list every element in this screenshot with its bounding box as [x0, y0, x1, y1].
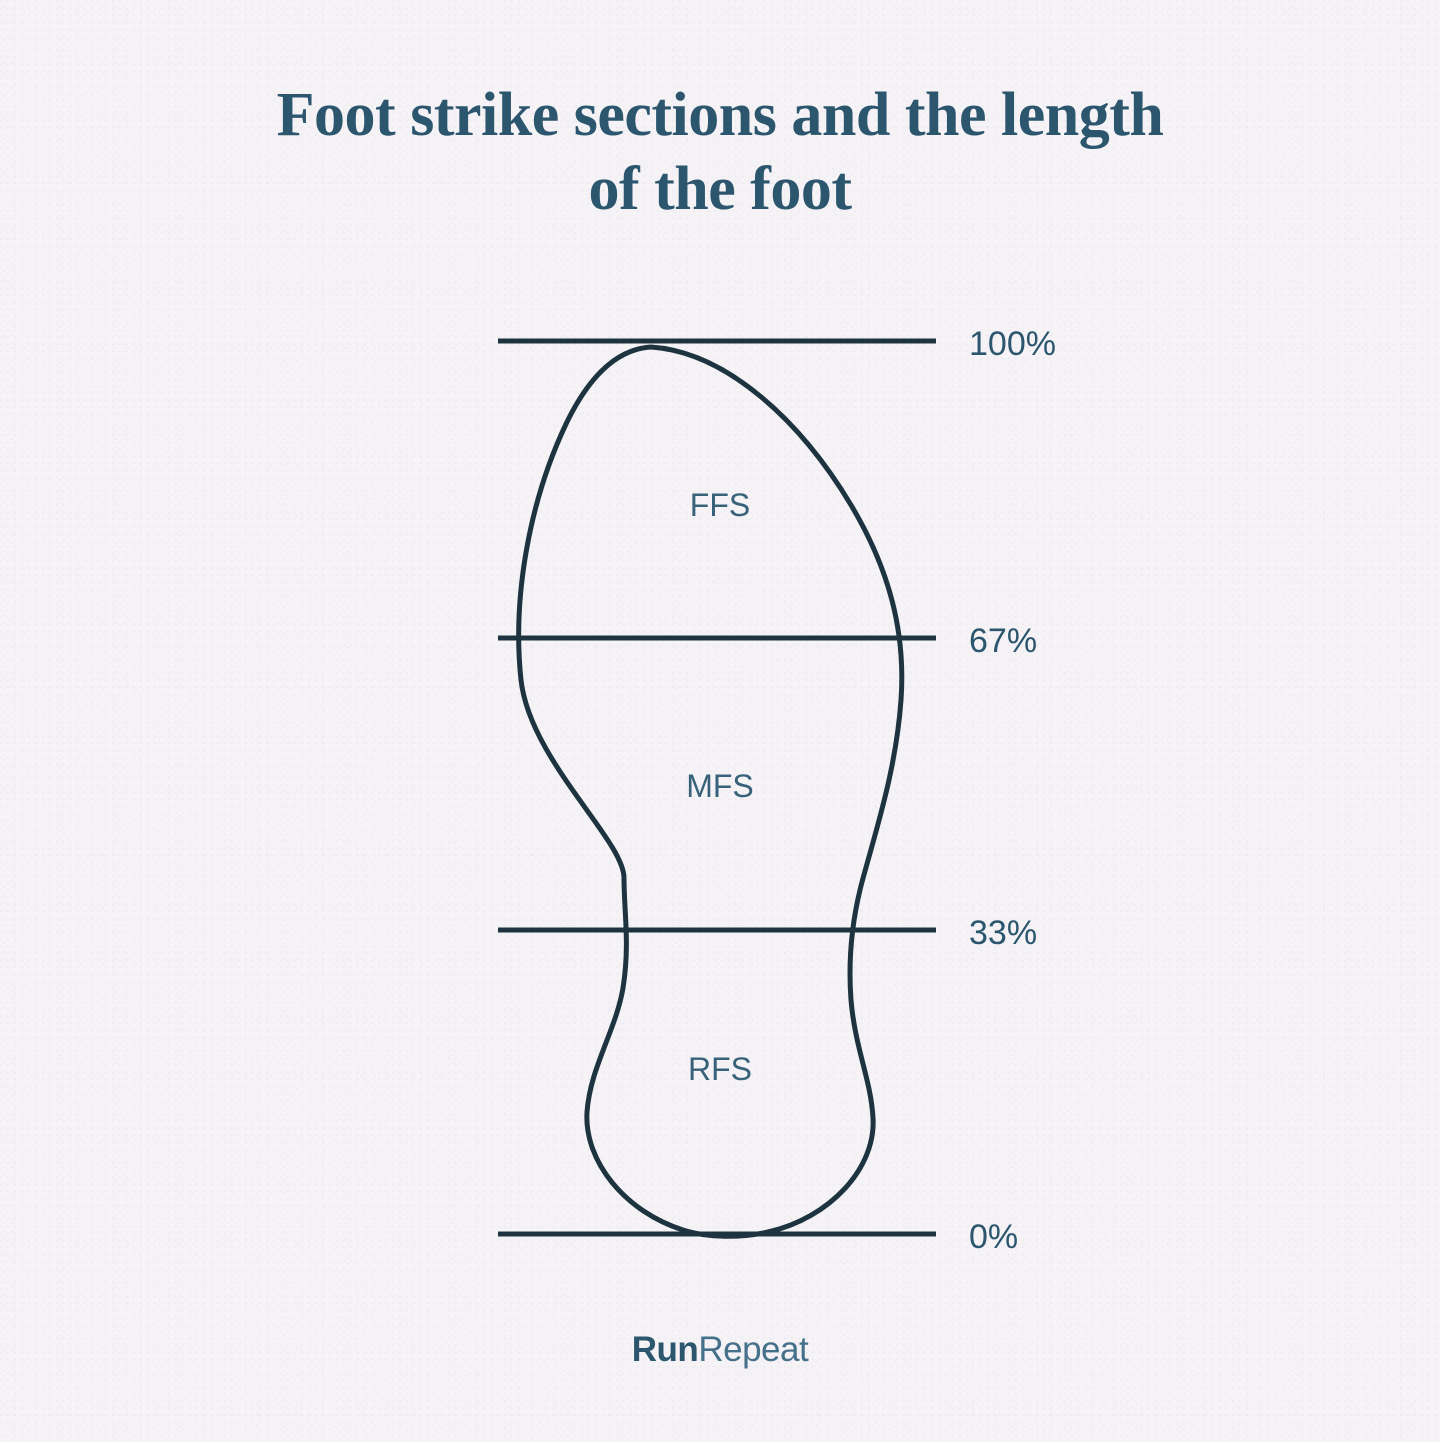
tick-label-33: 33%	[969, 914, 1037, 953]
tick-label-67: 67%	[969, 622, 1037, 661]
section-label-ffs: FFS	[620, 487, 820, 524]
infographic-page: Foot strike sections and the length of t…	[0, 0, 1440, 1442]
section-label-rfs: RFS	[620, 1051, 820, 1088]
logo-repeat-text: Repeat	[698, 1330, 808, 1369]
logo-run-text: Run	[632, 1330, 699, 1369]
runrepeat-logo: RunRepeat	[0, 1330, 1440, 1370]
tick-label-100: 100%	[969, 325, 1056, 364]
foot-strike-diagram	[0, 0, 1440, 1442]
tick-label-0: 0%	[969, 1218, 1018, 1257]
section-label-mfs: MFS	[620, 768, 820, 805]
